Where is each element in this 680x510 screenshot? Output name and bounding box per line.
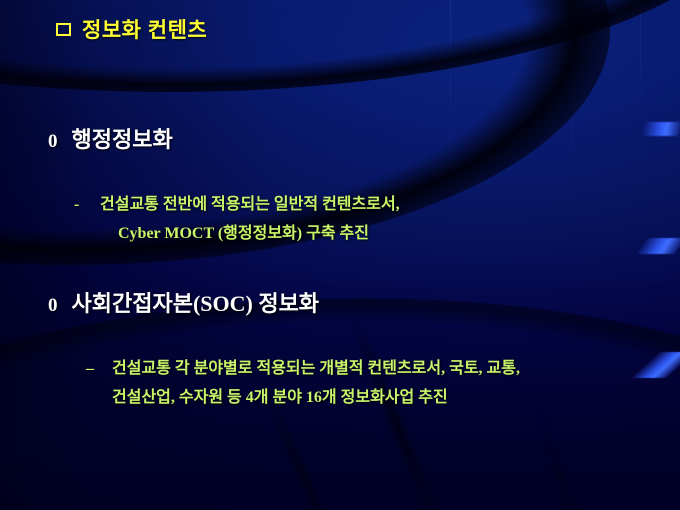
slide-title: 정보화 컨텐츠 bbox=[56, 14, 207, 44]
dash-bullet-icon: – bbox=[86, 354, 112, 383]
section-bullet-icon: 0 bbox=[48, 131, 58, 153]
section-heading-2-text: 사회간접자본(SOC) 정보화 bbox=[72, 286, 320, 318]
section-bullet-icon: 0 bbox=[48, 295, 58, 317]
slide-content: 정보화 컨텐츠 0 행정정보화 - 건설교통 전반에 적용되는 일반적 컨텐츠로… bbox=[0, 0, 680, 510]
body-line-text: Cyber MOCT (행정정보화) 구축 추진 bbox=[118, 219, 369, 248]
section-heading-2: 0 사회간접자본(SOC) 정보화 bbox=[48, 286, 319, 318]
body-line: Cyber MOCT (행정정보화) 구축 추진 bbox=[74, 219, 400, 248]
body-line: 건설산업, 수자원 등 4개 분야 16개 정보화사업 추진 bbox=[86, 383, 520, 412]
slide-title-text: 정보화 컨텐츠 bbox=[82, 14, 207, 44]
body-line: - 건설교통 전반에 적용되는 일반적 컨텐츠로서, bbox=[74, 190, 400, 219]
dash-bullet-icon: - bbox=[74, 190, 100, 219]
body-line-text: 건설산업, 수자원 등 4개 분야 16개 정보화사업 추진 bbox=[112, 383, 448, 412]
section-heading-1: 0 행정정보화 bbox=[48, 122, 173, 154]
body-line: – 건설교통 각 분야별로 적용되는 개별적 컨텐츠로서, 국토, 교통, bbox=[86, 354, 520, 383]
section-body-2: – 건설교통 각 분야별로 적용되는 개별적 컨텐츠로서, 국토, 교통, 건설… bbox=[86, 354, 520, 412]
presentation-slide: 정보화 컨텐츠 0 행정정보화 - 건설교통 전반에 적용되는 일반적 컨텐츠로… bbox=[0, 0, 680, 510]
square-outline-bullet-icon bbox=[56, 23, 71, 36]
section-heading-1-text: 행정정보화 bbox=[72, 122, 173, 154]
body-line-text: 건설교통 전반에 적용되는 일반적 컨텐츠로서, bbox=[100, 190, 400, 219]
section-body-1: - 건설교통 전반에 적용되는 일반적 컨텐츠로서, Cyber MOCT (행… bbox=[74, 190, 400, 248]
body-line-text: 건설교통 각 분야별로 적용되는 개별적 컨텐츠로서, 국토, 교통, bbox=[112, 354, 520, 383]
